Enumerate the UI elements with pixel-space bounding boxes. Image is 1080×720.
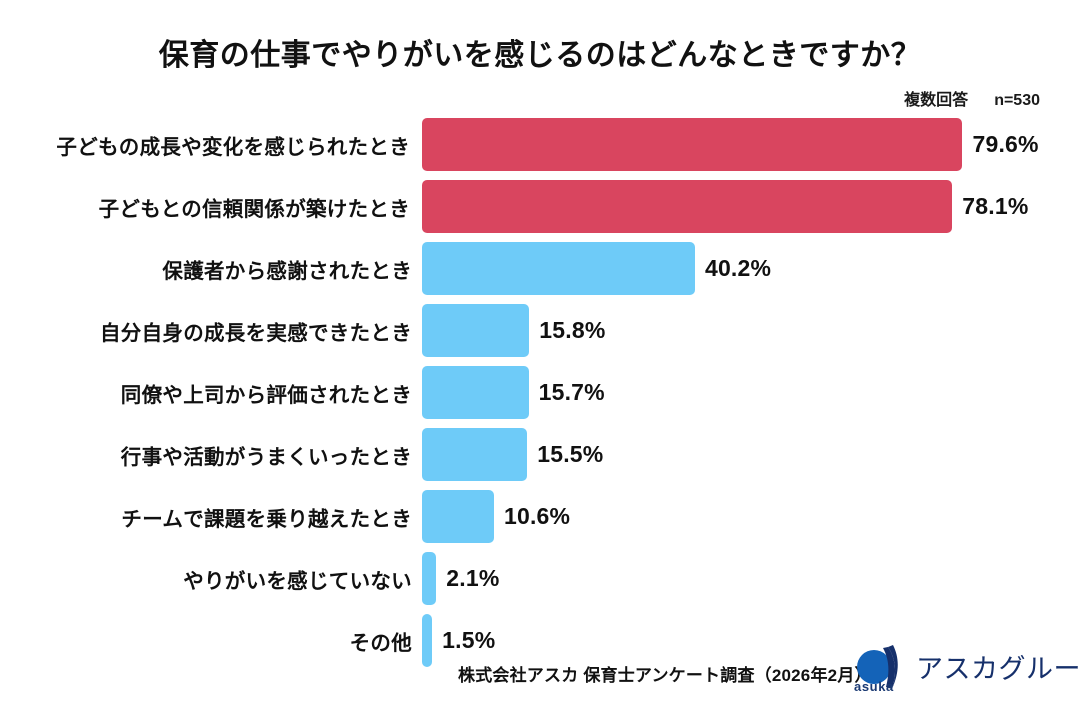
bar <box>422 180 952 233</box>
bar <box>422 304 529 357</box>
bar-row: 保護者から感謝されたとき40.2% <box>0 242 1080 295</box>
chart-note: 複数回答 n=530 <box>904 86 1040 110</box>
bar-category-label-text: 自分自身の成長を実感できたとき <box>100 316 412 346</box>
bar <box>422 552 436 605</box>
bar-row: 自分自身の成長を実感できたとき15.8% <box>0 304 1080 357</box>
bar-chart-plot-area: 子どもの成長や変化を感じられたとき79.6%子どもとの信頼関係が築けたとき78.… <box>0 112 1080 652</box>
page-title: 保育の仕事でやりがいを感じるのはどんなときですか？ <box>0 30 1080 74</box>
bar <box>422 118 962 171</box>
bar-category-label: 子どもの成長や変化を感じられたとき <box>54 118 412 171</box>
bar-value-label: 79.6% <box>972 118 1038 171</box>
bar-category-label-text: チームで課題を乗り越えたとき <box>121 502 412 532</box>
bar <box>422 490 494 543</box>
bar-row: 子どもの成長や変化を感じられたとき79.6% <box>0 118 1080 171</box>
bar-row: チームで課題を乗り越えたとき10.6% <box>0 490 1080 543</box>
chart-page: 保育の仕事でやりがいを感じるのはどんなときですか？ 複数回答 n=530 子ども… <box>0 0 1080 720</box>
bar-category-label: 自分自身の成長を実感できたとき <box>100 304 412 357</box>
bar-value-label: 15.5% <box>537 428 603 481</box>
bar-category-label-text: 保護者から感謝されたとき <box>162 254 412 284</box>
bar <box>422 242 695 295</box>
bar-category-label-text: 行事や活動がうまくいったとき <box>121 440 412 470</box>
bar-value-label: 15.8% <box>539 304 605 357</box>
bar-row: やりがいを感じていない2.1% <box>0 552 1080 605</box>
bar-row: 行事や活動がうまくいったとき15.5% <box>0 428 1080 481</box>
source-caption: 株式会社アスカ 保育士アンケート調査（2026年2月） <box>458 661 872 686</box>
bar-category-label: 行事や活動がうまくいったとき <box>121 428 412 481</box>
bar-category-label-text: 同僚や上司から評価されたとき <box>121 378 412 408</box>
bar-category-label: やりがいを感じていない <box>183 552 412 605</box>
note-sample-size: n=530 <box>994 92 1040 110</box>
bar <box>422 428 527 481</box>
asuka-logo-wordmark-small: asuka <box>854 679 894 694</box>
bar-row: 子どもとの信頼関係が築けたとき78.1% <box>0 180 1080 233</box>
bar-category-label-text: 子どもとの信頼関係が築けたとき <box>97 192 412 222</box>
bar-value-label: 40.2% <box>705 242 771 295</box>
bar-row: 同僚や上司から評価されたとき15.7% <box>0 366 1080 419</box>
asuka-logo-wordmark: アスカグループ <box>916 647 1080 686</box>
asuka-group-logo: asuka アスカグループ <box>852 643 1068 705</box>
bar-category-label-text: その他 <box>350 626 412 656</box>
bar-category-label: 子どもとの信頼関係が築けたとき <box>97 180 412 233</box>
bar-category-label: チームで課題を乗り越えたとき <box>121 490 412 543</box>
bar-category-label: 同僚や上司から評価されたとき <box>121 366 412 419</box>
bar-value-label: 10.6% <box>504 490 570 543</box>
bar-category-label-text: 子どもの成長や変化を感じられたとき <box>54 130 412 160</box>
note-multiple-answer: 複数回答 <box>904 86 968 110</box>
chart-footer: 株式会社アスカ 保育士アンケート調査（2026年2月） asuka アスカグルー… <box>0 655 1080 715</box>
bar-value-label: 2.1% <box>446 552 499 605</box>
bar-value-label: 78.1% <box>962 180 1028 233</box>
bar-category-label-text: やりがいを感じていない <box>183 564 412 594</box>
bar-category-label: 保護者から感謝されたとき <box>162 242 412 295</box>
bar <box>422 366 529 419</box>
bar-value-label: 15.7% <box>539 366 605 419</box>
